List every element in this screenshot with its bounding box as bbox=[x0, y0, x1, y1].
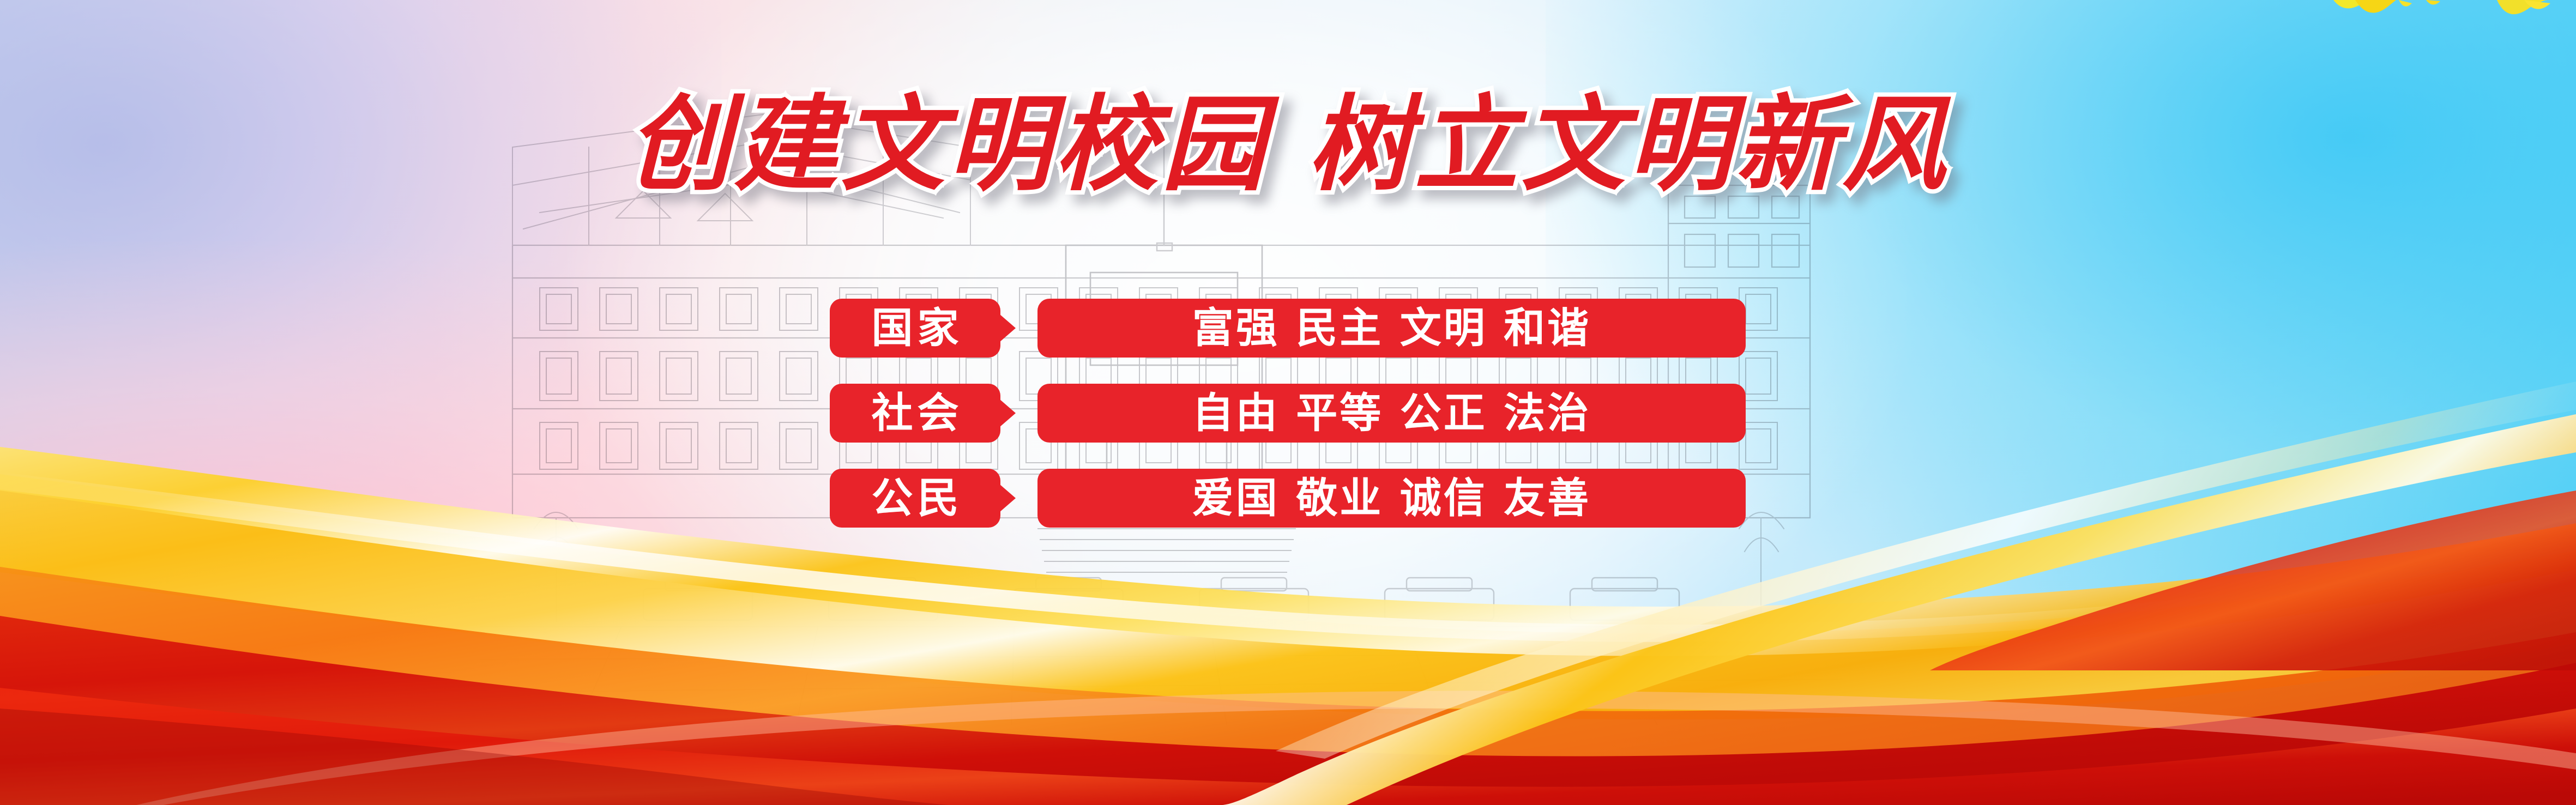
core-value-row-nation: 国家 富强 民主 文明 和谐 bbox=[830, 299, 1746, 358]
category-pill-nation[interactable]: 国家 bbox=[830, 299, 1000, 358]
value-pill-society[interactable]: 自由 平等 公正 法治 bbox=[1037, 384, 1746, 443]
category-label-nation: 国家 bbox=[867, 307, 963, 349]
value-text-citizen: 爱国 敬业 诚信 友善 bbox=[1192, 477, 1591, 519]
chevron-right-icon bbox=[999, 399, 1016, 427]
chevron-right-icon bbox=[999, 314, 1016, 342]
value-pill-citizen[interactable]: 爱国 敬业 诚信 友善 bbox=[1037, 469, 1746, 528]
category-pill-citizen[interactable]: 公民 bbox=[830, 469, 1000, 528]
core-value-row-society: 社会 自由 平等 公正 法治 bbox=[830, 384, 1746, 443]
value-text-nation: 富强 民主 文明 和谐 bbox=[1192, 307, 1591, 349]
chevron-right-icon bbox=[999, 484, 1016, 512]
core-value-row-citizen: 公民 爱国 敬业 诚信 友善 bbox=[830, 469, 1746, 528]
poster-canvas: 创建文明校园 树立文明新风 国家 富强 民主 文明 和谐 社会 自由 平等 公正… bbox=[0, 0, 2576, 805]
value-text-society: 自由 平等 公正 法治 bbox=[1192, 392, 1591, 434]
value-pill-nation[interactable]: 富强 民主 文明 和谐 bbox=[1037, 299, 1746, 358]
category-pill-society[interactable]: 社会 bbox=[830, 384, 1000, 443]
core-values-block: 国家 富强 民主 文明 和谐 社会 自由 平等 公正 法治 公民 爱国 bbox=[830, 299, 1746, 528]
category-label-citizen: 公民 bbox=[867, 477, 963, 519]
category-label-society: 社会 bbox=[867, 392, 963, 434]
